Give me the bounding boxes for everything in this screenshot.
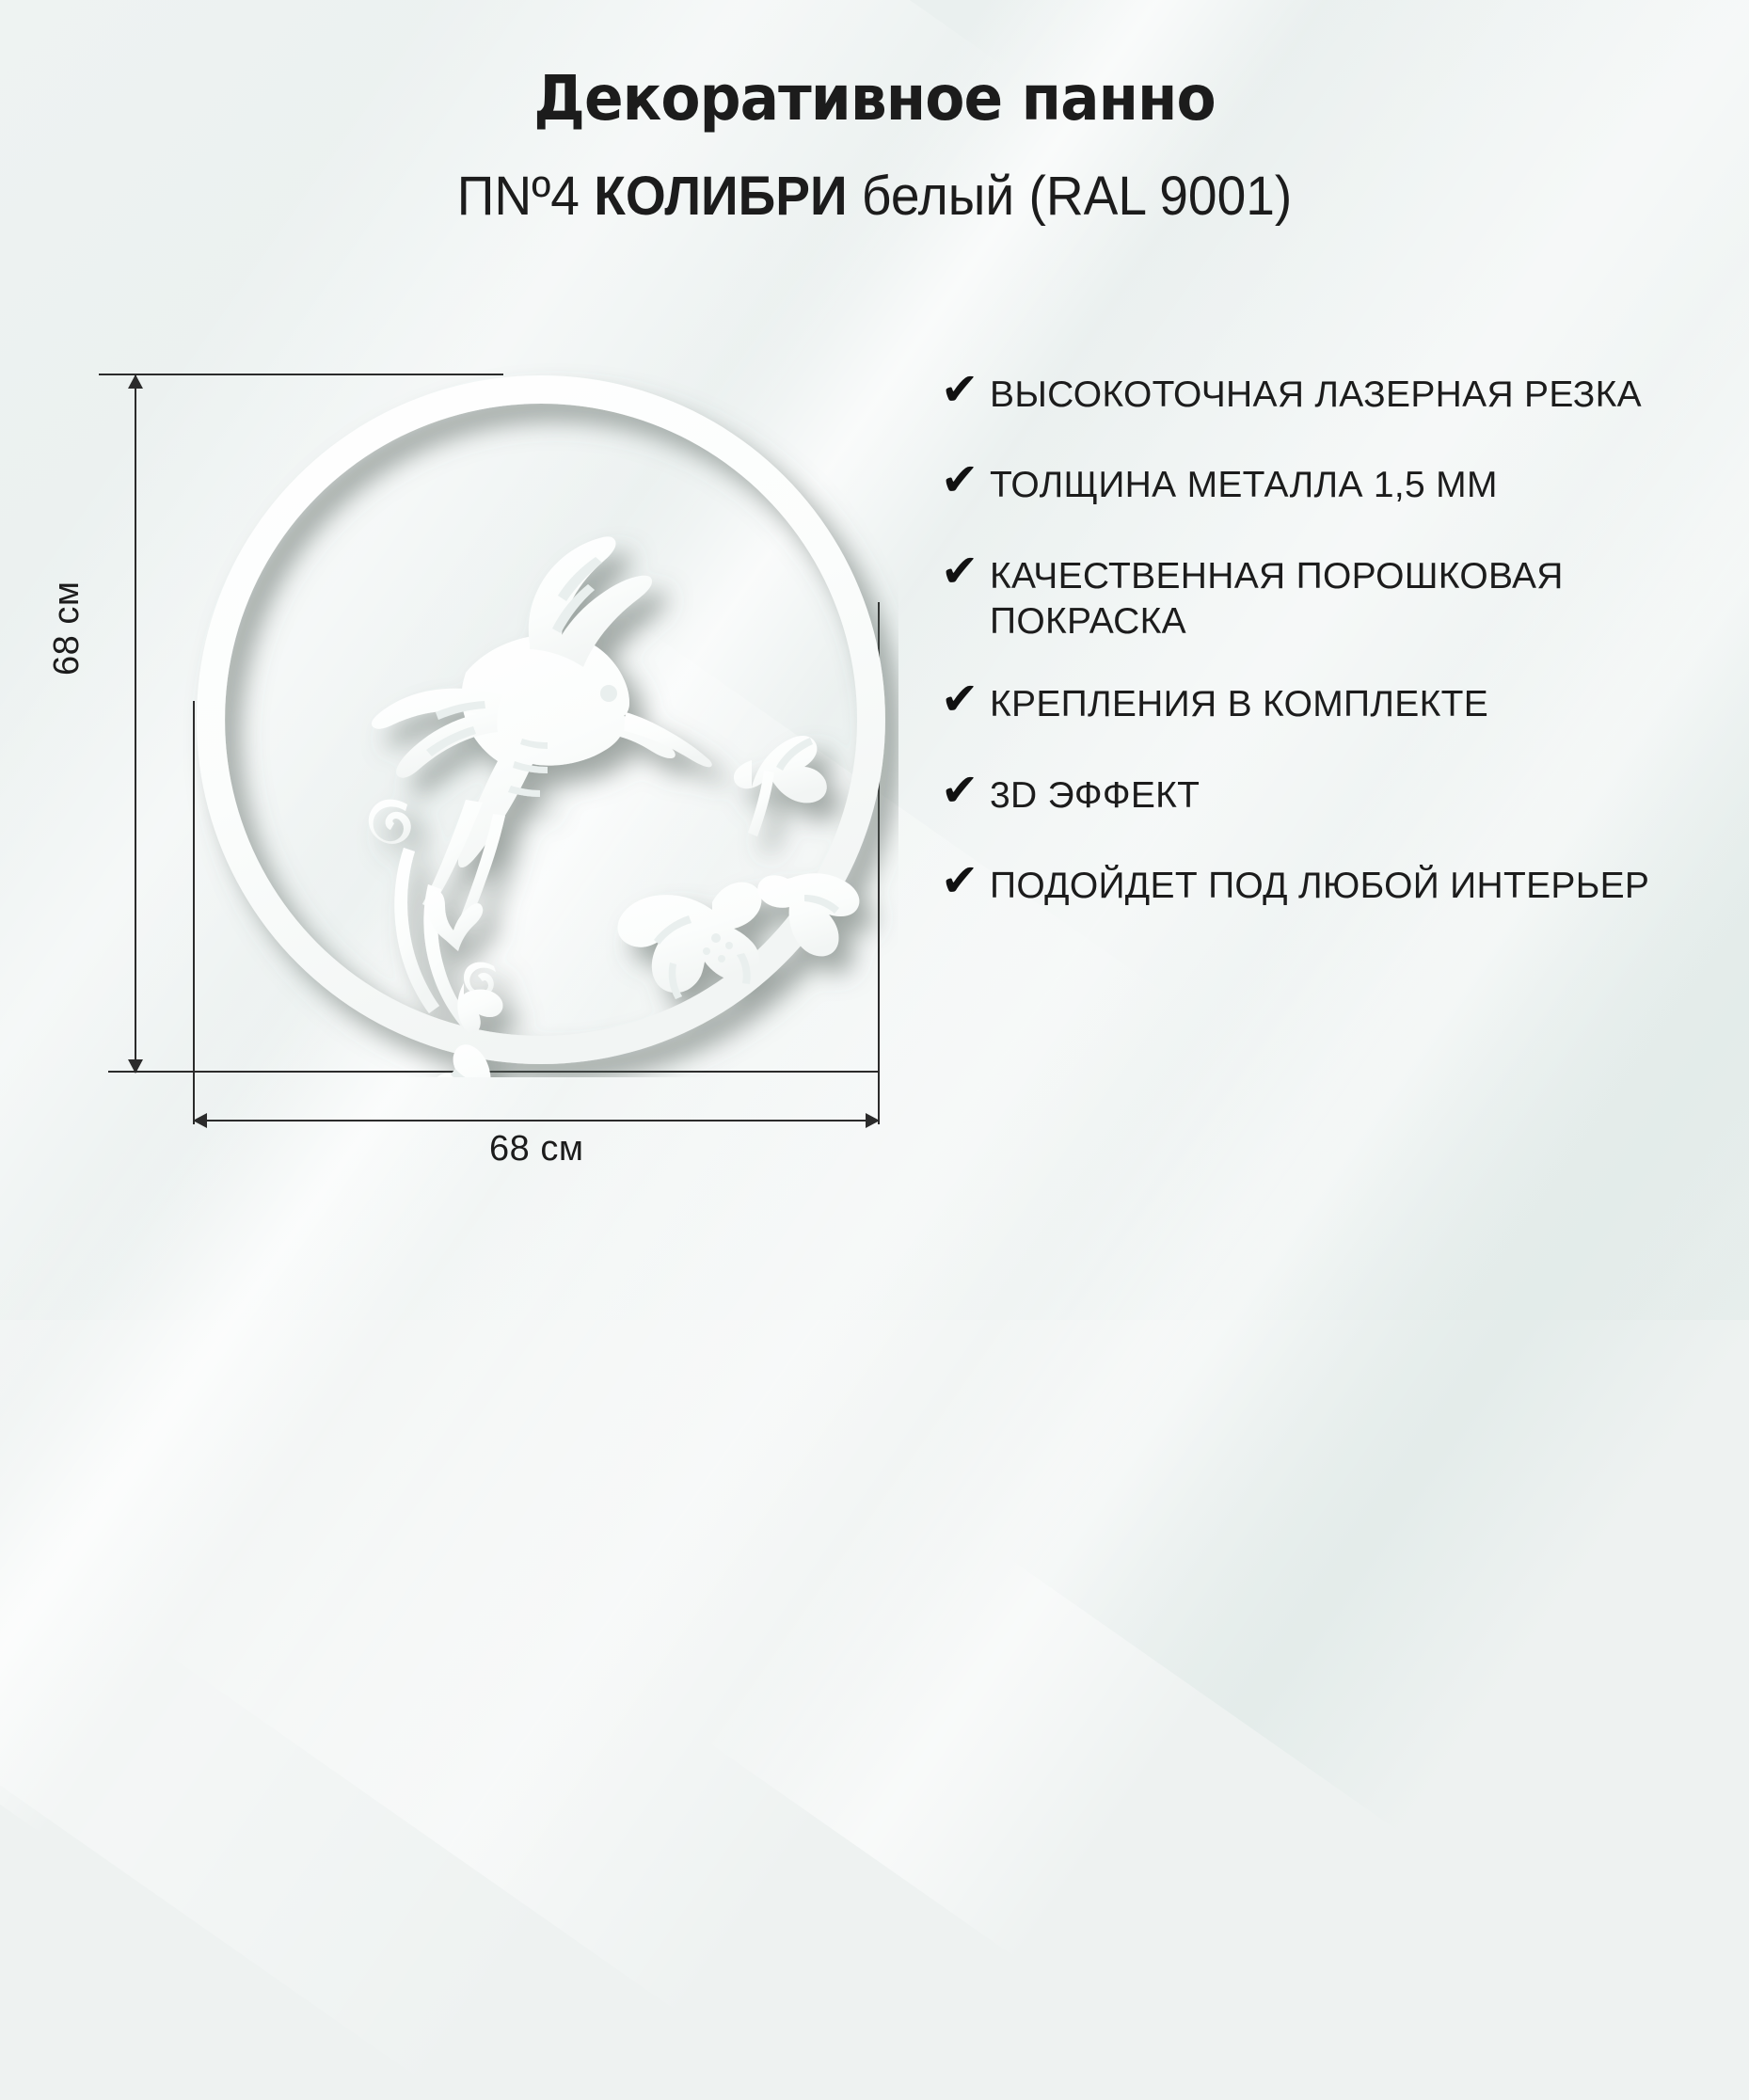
feature-label: КАЧЕСТВЕННАЯ ПОРОШКОВАЯ ПОКРАСКА — [990, 550, 1684, 645]
arrowhead-right-icon — [866, 1113, 880, 1128]
feature-label: ВЫСОКОТОЧНАЯ ЛАЗЕРНАЯ РЕЗКА — [990, 369, 1642, 418]
page-title: Декоративное панно — [61, 62, 1688, 135]
feature-item: ✔ ВЫСОКОТОЧНАЯ ЛАЗЕРНАЯ РЕЗКА — [941, 369, 1684, 418]
width-dimension-label: 68 см — [489, 1129, 583, 1169]
feature-item: ✔ ПОДОЙДЕТ ПОД ЛЮБОЙ ИНТЕРЬЕР — [941, 860, 1684, 909]
check-icon: ✔ — [941, 768, 990, 813]
feature-label: ПОДОЙДЕТ ПОД ЛЮБОЙ ИНТЕРЬЕР — [990, 860, 1649, 909]
product-color-spec: белый (RAL 9001) — [848, 166, 1293, 227]
dimension-arrow-vertical — [135, 374, 136, 1073]
feature-label: КРЕПЛЕНИЯ В КОМПЛЕКТЕ — [990, 678, 1488, 727]
product-subtitle: ПNº4 КОЛИБРИ белый (RAL 9001) — [43, 165, 1705, 228]
arrowhead-down-icon — [128, 1059, 143, 1074]
feature-list: ✔ ВЫСОКОТОЧНАЯ ЛАЗЕРНАЯ РЕЗКА ✔ ТОЛЩИНА … — [941, 369, 1684, 947]
dimension-arrow-horizontal — [193, 1120, 880, 1122]
feature-item: ✔ 3D ЭФФЕКТ — [941, 770, 1684, 819]
feature-label: 3D ЭФФЕКТ — [990, 770, 1200, 819]
check-icon: ✔ — [941, 367, 990, 412]
check-icon: ✔ — [941, 457, 990, 502]
check-icon: ✔ — [941, 676, 990, 722]
feature-item: ✔ КРЕПЛЕНИЯ В КОМПЛЕКТЕ — [941, 678, 1684, 727]
check-icon: ✔ — [941, 549, 990, 594]
arrowhead-up-icon — [128, 374, 143, 389]
height-dimension-label: 68 см — [47, 581, 87, 676]
feature-label: ТОЛЩИНА МЕТАЛЛА 1,5 ММ — [990, 459, 1498, 508]
arrowhead-left-icon — [193, 1113, 207, 1128]
check-icon: ✔ — [941, 858, 990, 903]
hummingbird-panel-artwork — [183, 362, 898, 1077]
feature-item: ✔ КАЧЕСТВЕННАЯ ПОРОШКОВАЯ ПОКРАСКА — [941, 550, 1684, 645]
feature-item: ✔ ТОЛЩИНА МЕТАЛЛА 1,5 ММ — [941, 459, 1684, 508]
product-code: ПNº4 — [457, 166, 594, 227]
product-model-name: КОЛИБРИ — [594, 166, 847, 227]
